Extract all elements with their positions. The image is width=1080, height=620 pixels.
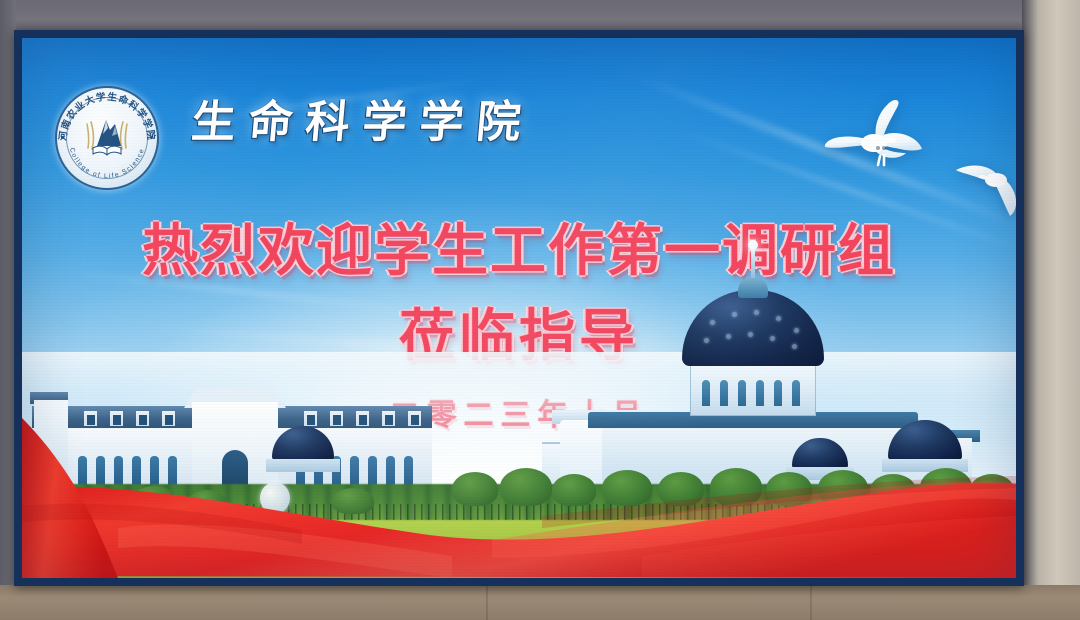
dome-spire (751, 248, 755, 278)
campus-scene (22, 318, 1016, 578)
wall-right (1022, 0, 1080, 620)
college-name-title: 生命科学学院 (189, 86, 537, 150)
dove-large (822, 93, 940, 185)
wall-panel-seam (486, 585, 488, 620)
spire-tip-highlight (748, 240, 758, 250)
university-emblem: 河南农业大学生命科学学院 College of Life Science (55, 86, 159, 190)
wall-panel-seam (810, 585, 812, 620)
emblem-book-mountain-icon (79, 112, 135, 162)
headline-line-1: 热烈欢迎学生工作第一调研组 (22, 206, 1016, 287)
led-screen-display: 河南农业大学生命科学学院 College of Life Science 生命科… (22, 38, 1016, 578)
red-silk-ribbon (22, 388, 1016, 578)
dome-lantern (738, 276, 768, 298)
wall-upper (0, 0, 1080, 34)
wall-bottom (0, 585, 1080, 620)
room-scene: 河南农业大学生命科学学院 College of Life Science 生命科… (0, 0, 1080, 620)
